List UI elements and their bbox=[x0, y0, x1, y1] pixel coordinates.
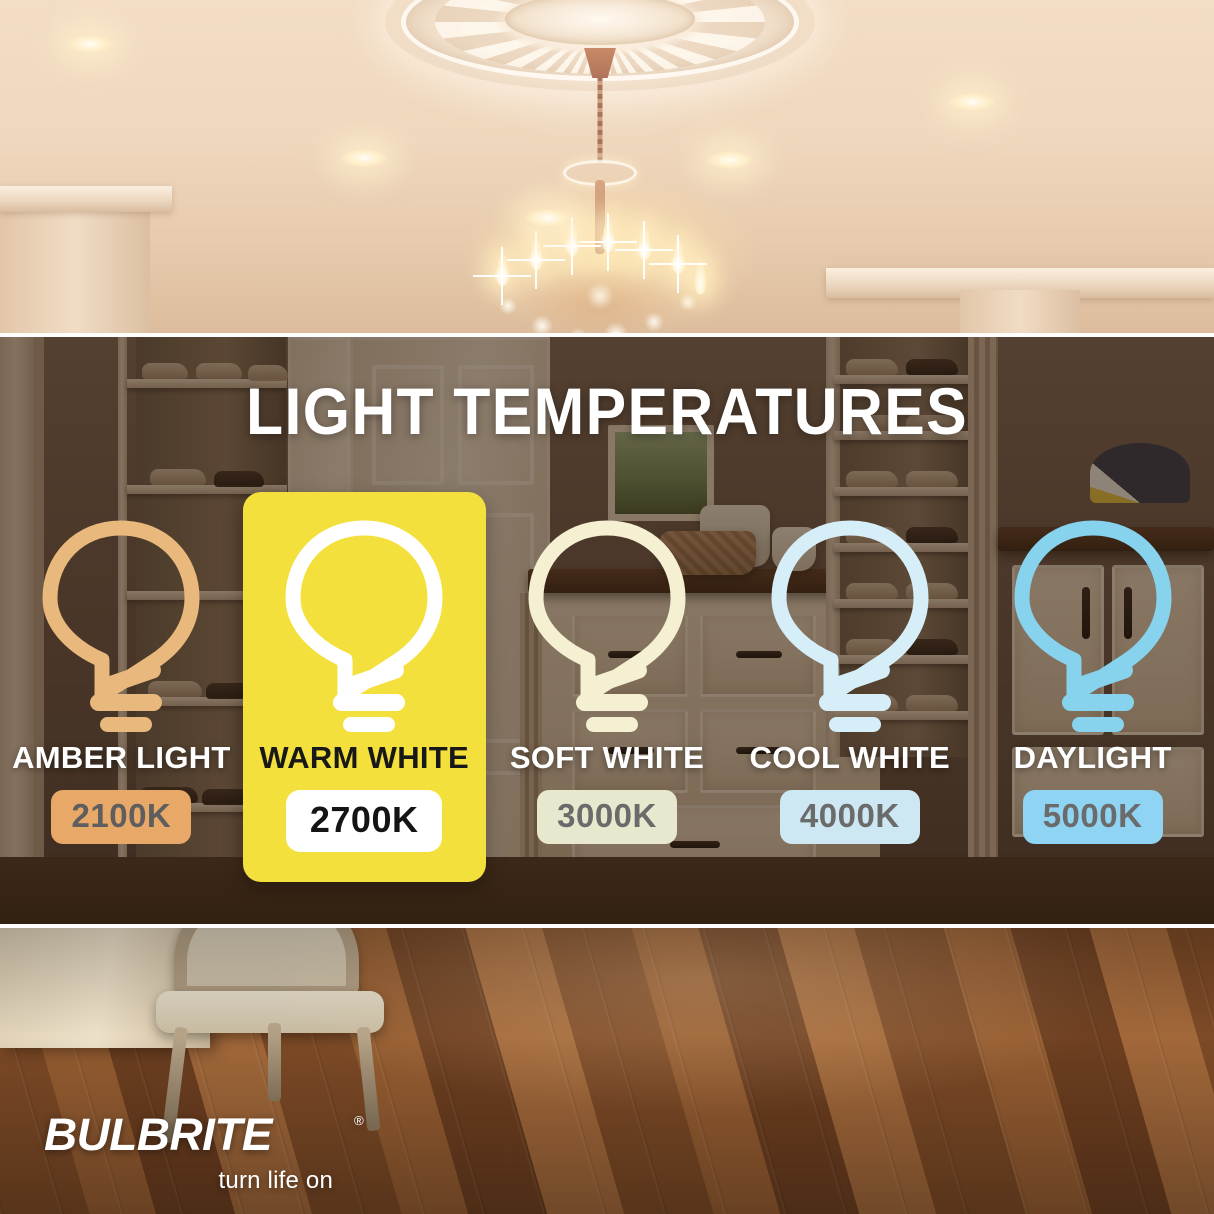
temperature-name: WARM WHITE bbox=[259, 740, 469, 776]
light-bulb-icon bbox=[518, 514, 696, 732]
brand-wordmark: BULBRITE ® bbox=[44, 1112, 350, 1157]
kelvin-badge: 2100K bbox=[51, 790, 191, 844]
kelvin-badge: 4000K bbox=[780, 790, 920, 844]
temperature-card-amber-light[interactable]: AMBER LIGHT 2100K bbox=[0, 492, 243, 882]
light-bulb-icon bbox=[275, 514, 453, 732]
brand-tagline: turn life on bbox=[47, 1167, 347, 1195]
poster-content: LIGHT TEMPERATURES bbox=[0, 0, 1214, 1214]
temperature-card-cool-white[interactable]: COOL WHITE 4000K bbox=[728, 492, 971, 882]
light-bulb-icon bbox=[32, 514, 210, 732]
temperature-name: DAYLIGHT bbox=[1014, 740, 1172, 776]
kelvin-badge: 3000K bbox=[537, 790, 677, 844]
temperature-card-daylight[interactable]: DAYLIGHT 5000K bbox=[971, 492, 1214, 882]
registered-trademark-icon: ® bbox=[354, 1114, 363, 1127]
temperature-name: COOL WHITE bbox=[750, 740, 950, 776]
kelvin-badge: 2700K bbox=[286, 790, 443, 852]
page-title: LIGHT TEMPERATURES bbox=[49, 378, 1166, 444]
temperature-card-list: AMBER LIGHT 2100K bbox=[0, 492, 1214, 882]
brand-name: BULBRITE bbox=[44, 1109, 272, 1160]
brand-logo: BULBRITE ® turn life on bbox=[47, 1112, 347, 1196]
temperature-name: AMBER LIGHT bbox=[12, 740, 231, 776]
light-bulb-icon bbox=[761, 514, 939, 732]
kelvin-badge: 5000K bbox=[1023, 790, 1163, 844]
temperature-card-soft-white[interactable]: SOFT WHITE 3000K bbox=[486, 492, 729, 882]
poster: LIGHT TEMPERATURES bbox=[0, 0, 1214, 1214]
light-bulb-icon bbox=[1004, 514, 1182, 732]
temperature-card-warm-white[interactable]: WARM WHITE 2700K bbox=[243, 492, 486, 882]
temperature-name: SOFT WHITE bbox=[510, 740, 704, 776]
